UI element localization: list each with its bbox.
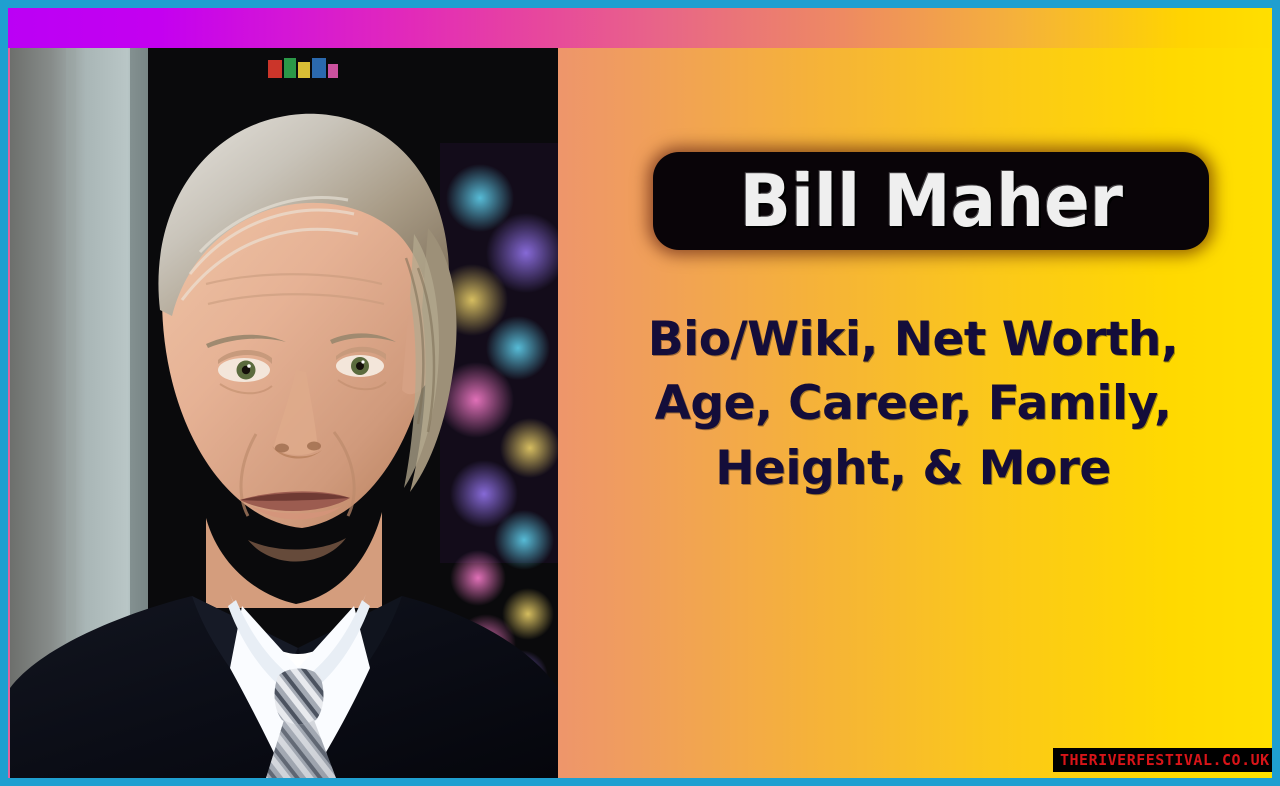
poster-root: Bill Maher Bio/Wiki, Net Worth, Age, Car… bbox=[0, 0, 1280, 786]
celebrity-portrait-photo bbox=[10, 48, 558, 778]
poster-canvas: Bill Maher Bio/Wiki, Net Worth, Age, Car… bbox=[8, 8, 1272, 778]
watermark-url-text: THERIVERFESTIVAL.CO.UK bbox=[1060, 751, 1270, 769]
watermark-badge: THERIVERFESTIVAL.CO.UK bbox=[1053, 748, 1272, 772]
title-plate: Bill Maher bbox=[653, 152, 1209, 250]
page-title: Bill Maher bbox=[739, 165, 1122, 237]
subtitle-line-2: Age, Career, Family, bbox=[583, 372, 1243, 436]
subtitle-line-1: Bio/Wiki, Net Worth, bbox=[583, 308, 1243, 372]
magenta-top-strip bbox=[8, 8, 1272, 48]
subtitle-line-3: Height, & More bbox=[583, 437, 1243, 501]
subtitle-block: Bio/Wiki, Net Worth, Age, Career, Family… bbox=[583, 308, 1243, 501]
